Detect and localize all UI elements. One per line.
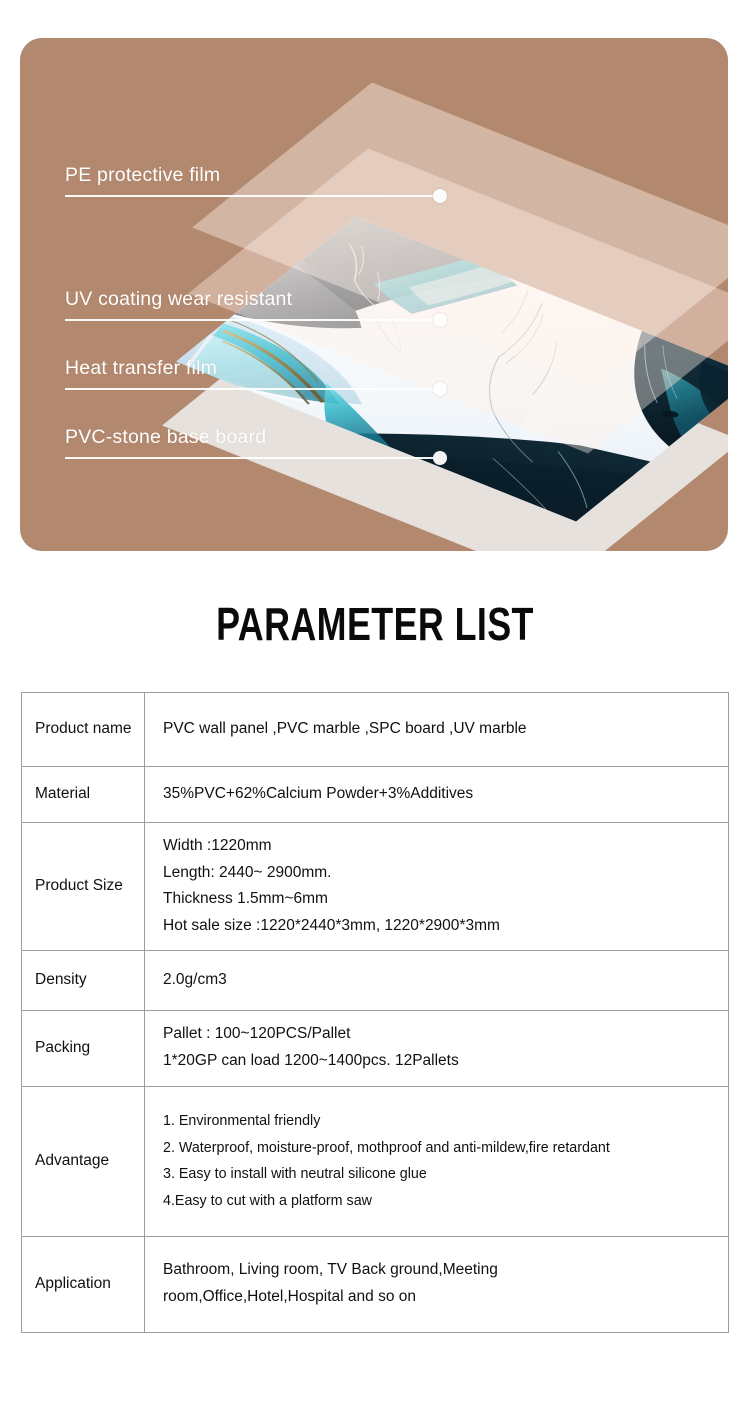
table-cell-value: Pallet : 100~120PCS/Pallet 1*20GP can lo…	[145, 1010, 729, 1086]
table-cell-value: PVC wall panel ,PVC marble ,SPC board ,U…	[145, 693, 729, 767]
table-cell-key: Product Size	[22, 823, 145, 951]
table-row: Application Bathroom, Living room, TV Ba…	[22, 1236, 729, 1332]
table-row: Packing Pallet : 100~120PCS/Pallet 1*20G…	[22, 1010, 729, 1086]
table-row: Product name PVC wall panel ,PVC marble …	[22, 693, 729, 767]
table-cell-value: Width :1220mm Length: 2440~ 2900mm. Thic…	[145, 823, 729, 951]
parameter-table: Product name PVC wall panel ,PVC marble …	[21, 692, 729, 1333]
table-cell-value: 1. Environmental friendly 2. Waterproof,…	[145, 1086, 729, 1236]
table-cell-key: Density	[22, 950, 145, 1010]
table-row: Advantage 1. Environmental friendly 2. W…	[22, 1086, 729, 1236]
table-cell-key: Advantage	[22, 1086, 145, 1236]
product-structure-hero: PE protective film UV coating wear resis…	[20, 38, 728, 551]
layer-diagram: PE protective film UV coating wear resis…	[20, 38, 728, 551]
table-cell-key: Product name	[22, 693, 145, 767]
table-row: Density 2.0g/cm3	[22, 950, 729, 1010]
table-cell-value: Bathroom, Living room, TV Back ground,Me…	[145, 1236, 729, 1332]
table-row: Material 35%PVC+62%Calcium Powder+3%Addi…	[22, 767, 729, 823]
table-cell-value: 2.0g/cm3	[145, 950, 729, 1010]
table-cell-key: Material	[22, 767, 145, 823]
section-title: PARAMETER LIST	[83, 601, 668, 647]
table-cell-value: 35%PVC+62%Calcium Powder+3%Additives	[145, 767, 729, 823]
table-row: Product Size Width :1220mm Length: 2440~…	[22, 823, 729, 951]
table-cell-key: Application	[22, 1236, 145, 1332]
table-cell-key: Packing	[22, 1010, 145, 1086]
